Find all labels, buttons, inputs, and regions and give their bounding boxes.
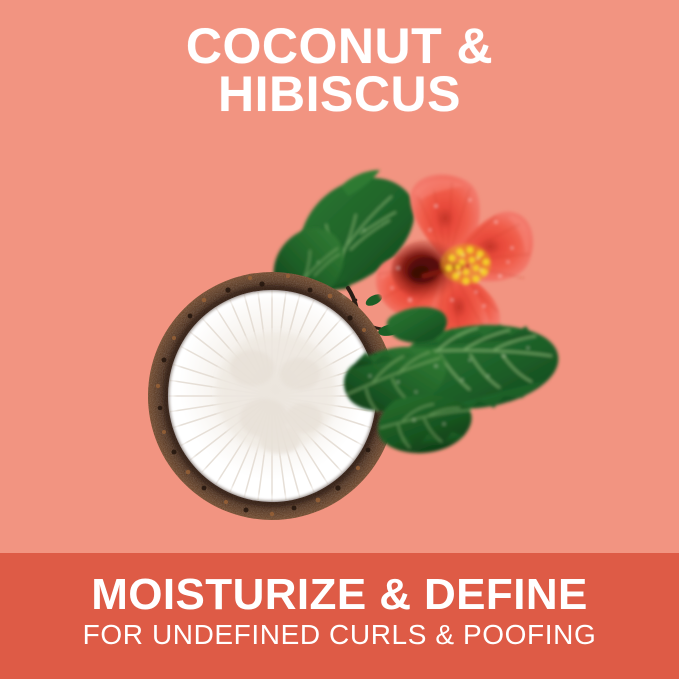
banner-headline: MOISTURIZE & DEFINE bbox=[0, 572, 679, 618]
banner-subheadline: FOR UNDEFINED CURLS & POOFING bbox=[0, 620, 679, 650]
headline-line-2: HIBISCUS bbox=[0, 70, 679, 118]
product-banner-image: COCONUT & HIBISCUS MOISTURIZE & DEFINE F… bbox=[0, 0, 679, 679]
headline-line-1: COCONUT & bbox=[0, 22, 679, 70]
headline: COCONUT & HIBISCUS bbox=[0, 22, 679, 118]
